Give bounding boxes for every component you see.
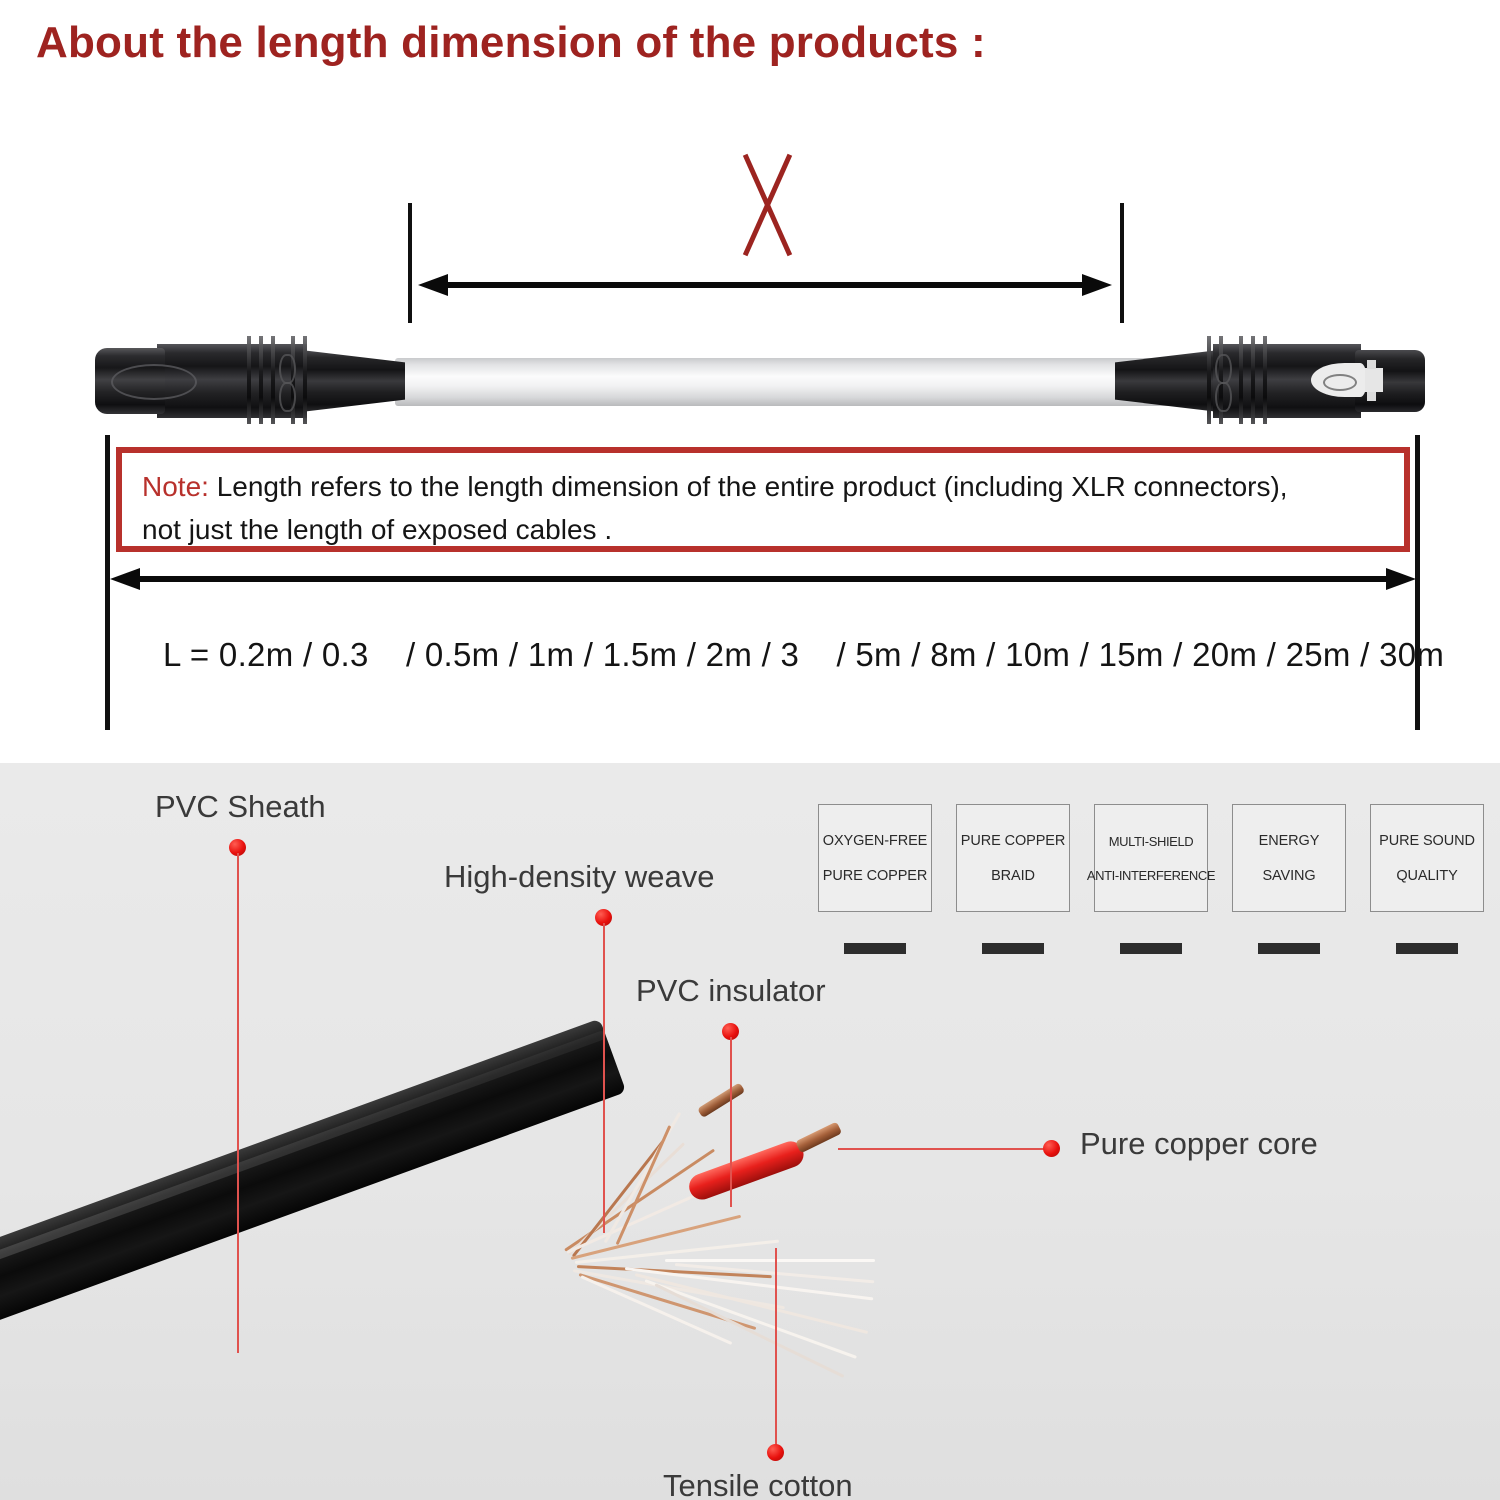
leader-line-pvc-insulator (730, 1037, 732, 1207)
xlr-male-connector (95, 330, 405, 430)
feature-badge-multi-shield-anti-interference[interactable]: MULTI-SHIELD ANTI-INTERFERENCE (1094, 804, 1208, 954)
callout-label-high-density-weave: High-density weave (444, 859, 715, 895)
feature-underline (844, 943, 906, 954)
xlr-cable-assembly (95, 330, 1425, 430)
length-list-prefix: L = 0.2m / 0.3 (163, 636, 369, 673)
feature-underline (1120, 943, 1182, 954)
feature-line-1: ENERGY (1259, 833, 1320, 849)
pvc-sheath-cable (0, 1019, 626, 1359)
feature-badge-pure-copper-braid[interactable]: PURE COPPER BRAID (956, 804, 1070, 954)
callout-dot-tensile-cotton (767, 1444, 784, 1461)
feature-badge-energy-saving[interactable]: ENERGY SAVING (1232, 804, 1346, 954)
callout-label-pure-copper-core: Pure copper core (1080, 1126, 1318, 1162)
xlr-female-connector (1115, 330, 1425, 430)
dimension-arrow-exposed-cable (418, 274, 1112, 296)
feature-badge-oxygen-free-pure-copper[interactable]: OXYGEN-FREE PURE COPPER (818, 804, 932, 954)
copper-strand (697, 1082, 745, 1118)
feature-line-2: PURE COPPER (823, 868, 927, 884)
feature-line-1: PURE COPPER (961, 833, 1065, 849)
feature-underline (1258, 943, 1320, 954)
length-options-list: L = 0.2m / 0.3m / 0.5m / 1m / 1.5m / 2m … (163, 636, 1444, 674)
feature-line-2: QUALITY (1396, 868, 1457, 884)
feature-line-1: PURE SOUND (1379, 833, 1475, 849)
feature-badge-group: OXYGEN-FREE PURE COPPER PURE COPPER BRAI… (818, 804, 1486, 989)
length-list-faded-2: m (799, 636, 827, 673)
length-list-suffix: / 5m / 8m / 10m / 15m / 20m / 25m / 30m (827, 636, 1444, 673)
feature-badge-pure-sound-quality[interactable]: PURE SOUND QUALITY (1370, 804, 1484, 954)
page-title: About the length dimension of the produc… (36, 18, 986, 68)
frayed-fiber-bundle (565, 1163, 925, 1343)
feature-box: OXYGEN-FREE PURE COPPER (818, 804, 932, 912)
feature-underline (982, 943, 1044, 954)
feature-box: MULTI-SHIELD ANTI-INTERFERENCE (1094, 804, 1208, 912)
leader-line-tensile-cotton (775, 1248, 777, 1453)
infographic-page: About the length dimension of the produc… (0, 0, 1500, 1500)
note-text-1: Length refers to the length dimension of… (209, 471, 1288, 502)
feature-line-2: SAVING (1262, 868, 1315, 884)
feature-line-2: ANTI-INTERFERENCE (1087, 868, 1215, 883)
note-line-1: Note: Length refers to the length dimens… (142, 465, 1390, 508)
leader-line-pure-copper-core (838, 1148, 1050, 1150)
callout-label-pvc-insulator: PVC insulator (636, 973, 826, 1009)
note-line-2: not just the length of exposed cables . (142, 508, 1390, 551)
feature-line-1: OXYGEN-FREE (823, 833, 927, 849)
feature-box: ENERGY SAVING (1232, 804, 1346, 912)
feature-box: PURE COPPER BRAID (956, 804, 1070, 912)
cross-icon (715, 150, 815, 260)
feature-box: PURE SOUND QUALITY (1370, 804, 1484, 912)
length-list-faded-1: m (369, 636, 397, 673)
length-dimension-section: About the length dimension of the produc… (0, 0, 1500, 763)
callout-dot-pure-copper-core (1043, 1140, 1060, 1157)
note-box: Note: Length refers to the length dimens… (116, 447, 1410, 552)
length-list-mid: / 0.5m / 1m / 1.5m / 2m / 3 (396, 636, 799, 673)
callout-label-pvc-sheath: PVC Sheath (155, 789, 326, 825)
guide-line-cable-left (408, 203, 412, 323)
dimension-arrow-full-product (110, 568, 1416, 590)
xlr-latch (1365, 368, 1383, 392)
cable-construction-section: PVC Sheath High-density weave PVC insula… (0, 763, 1500, 1500)
guide-line-cable-right (1120, 203, 1124, 323)
feature-line-1: MULTI-SHIELD (1109, 834, 1194, 849)
leader-line-pvc-sheath (237, 853, 239, 1353)
feature-line-2: BRAID (991, 868, 1035, 884)
feature-underline (1396, 943, 1458, 954)
exposed-copper-core (795, 1121, 842, 1153)
callout-label-tensile-cotton: Tensile cotton (663, 1468, 853, 1500)
leader-line-high-density-weave (603, 923, 605, 1233)
note-label: Note: (142, 471, 209, 502)
